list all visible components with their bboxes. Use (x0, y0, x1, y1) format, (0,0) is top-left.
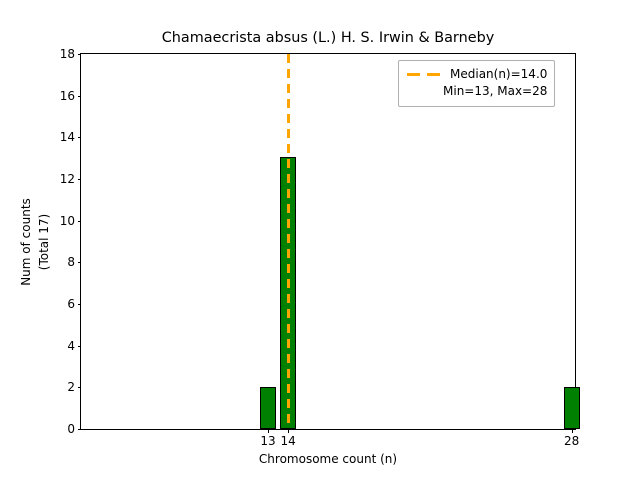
dash-segment (427, 73, 440, 76)
dash-segment (407, 73, 420, 76)
y-axis-label: Num of counts (19, 198, 33, 286)
legend-label-minmax: Min=13, Max=28 (443, 83, 547, 100)
y-tick-mark (78, 346, 82, 347)
x-tick-label: 13 (260, 435, 275, 447)
legend-entry-minmax: Min=13, Max=28 (406, 83, 547, 100)
y-tick-mark (78, 221, 82, 222)
legend-label-median: Median(n)=14.0 (450, 66, 547, 83)
y-tick-label: 4 (67, 340, 75, 352)
y-axis-sublabel-total: (Total 17) (37, 213, 51, 269)
y-tick-label: 6 (67, 298, 75, 310)
y-tick-mark (78, 96, 82, 97)
legend-entry-median: Median(n)=14.0 (406, 66, 547, 83)
legend: Median(n)=14.0 Min=13, Max=28 (398, 60, 555, 107)
y-tick-label: 18 (60, 48, 75, 60)
chart-title: Chamaecrista absus (L.) H. S. Irwin & Ba… (80, 30, 576, 47)
y-tick-label: 0 (67, 423, 75, 435)
y-tick-mark (78, 304, 82, 305)
median-line (287, 54, 290, 429)
bar-13 (260, 387, 276, 429)
y-tick-mark (78, 137, 82, 138)
x-axis-label: Chromosome count (n) (80, 452, 576, 466)
y-tick-mark (78, 262, 82, 263)
y-tick-label: 2 (67, 381, 75, 393)
y-tick-label: 10 (60, 215, 75, 227)
x-tick-mark (268, 429, 269, 433)
y-tick-label: 16 (60, 90, 75, 102)
bar-28 (564, 387, 580, 429)
matplotlib-figure: Chamaecrista absus (L.) H. S. Irwin & Ba… (0, 0, 640, 480)
y-tick-mark (78, 54, 82, 55)
dashed-line-icon (406, 66, 442, 83)
x-tick-mark (288, 429, 289, 433)
y-axis-label-group: Num of counts (Total 17) (0, 53, 34, 430)
y-tick-label: 14 (60, 131, 75, 143)
x-tick-label: 14 (281, 435, 296, 447)
y-tick-label: 12 (60, 173, 75, 185)
x-tick-label: 28 (564, 435, 579, 447)
plot-inner: 0 2 4 6 8 10 1 (81, 54, 575, 429)
y-tick-mark (78, 429, 82, 430)
x-tick-mark (572, 429, 573, 433)
plot-area: 0 2 4 6 8 10 1 (80, 53, 576, 430)
y-tick-mark (78, 179, 82, 180)
y-tick-label: 8 (67, 256, 75, 268)
y-tick-mark (78, 387, 82, 388)
